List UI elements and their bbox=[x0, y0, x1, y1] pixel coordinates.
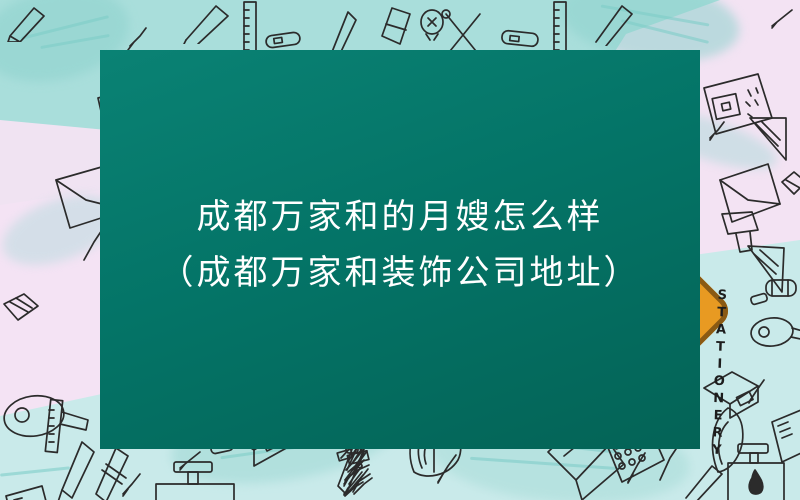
pencil-icon bbox=[4, 2, 50, 42]
pencil-icon bbox=[182, 2, 232, 44]
notebook-icon bbox=[0, 482, 58, 500]
sponge-icon bbox=[778, 168, 800, 204]
eraser-icon bbox=[380, 6, 414, 46]
pencil-icon bbox=[590, 2, 636, 46]
push-pin-icon bbox=[126, 24, 148, 52]
stapler-icon bbox=[500, 26, 542, 52]
page-title: 成都万家和的月嫂怎么样 （成都万家和装饰公司地址） bbox=[100, 189, 700, 301]
title-line-1: 成都万家和的月嫂怎么样 bbox=[106, 189, 694, 245]
pin-icon bbox=[340, 462, 374, 484]
push-pin-icon bbox=[744, 376, 768, 406]
stapler-icon bbox=[264, 28, 304, 52]
push-pin-icon bbox=[768, 8, 796, 30]
set-square-icon bbox=[744, 112, 792, 166]
magnifier-icon bbox=[748, 310, 800, 354]
push-pin-icon bbox=[176, 450, 204, 472]
push-pin-icon bbox=[706, 120, 726, 142]
banner-canvas: STATIONERY Y 成都万家和的月嫂怎么样 （成都万家和装饰公司地址） bbox=[0, 0, 800, 500]
set-square-icon bbox=[740, 240, 792, 298]
brush-icon bbox=[92, 446, 138, 500]
title-panel: 成都万家和的月嫂怎么样 （成都万家和装饰公司地址） bbox=[100, 50, 700, 449]
sponge-icon bbox=[0, 290, 42, 330]
title-line-2: （成都万家和装饰公司地址） bbox=[106, 245, 694, 301]
notebook-icon bbox=[766, 404, 800, 468]
